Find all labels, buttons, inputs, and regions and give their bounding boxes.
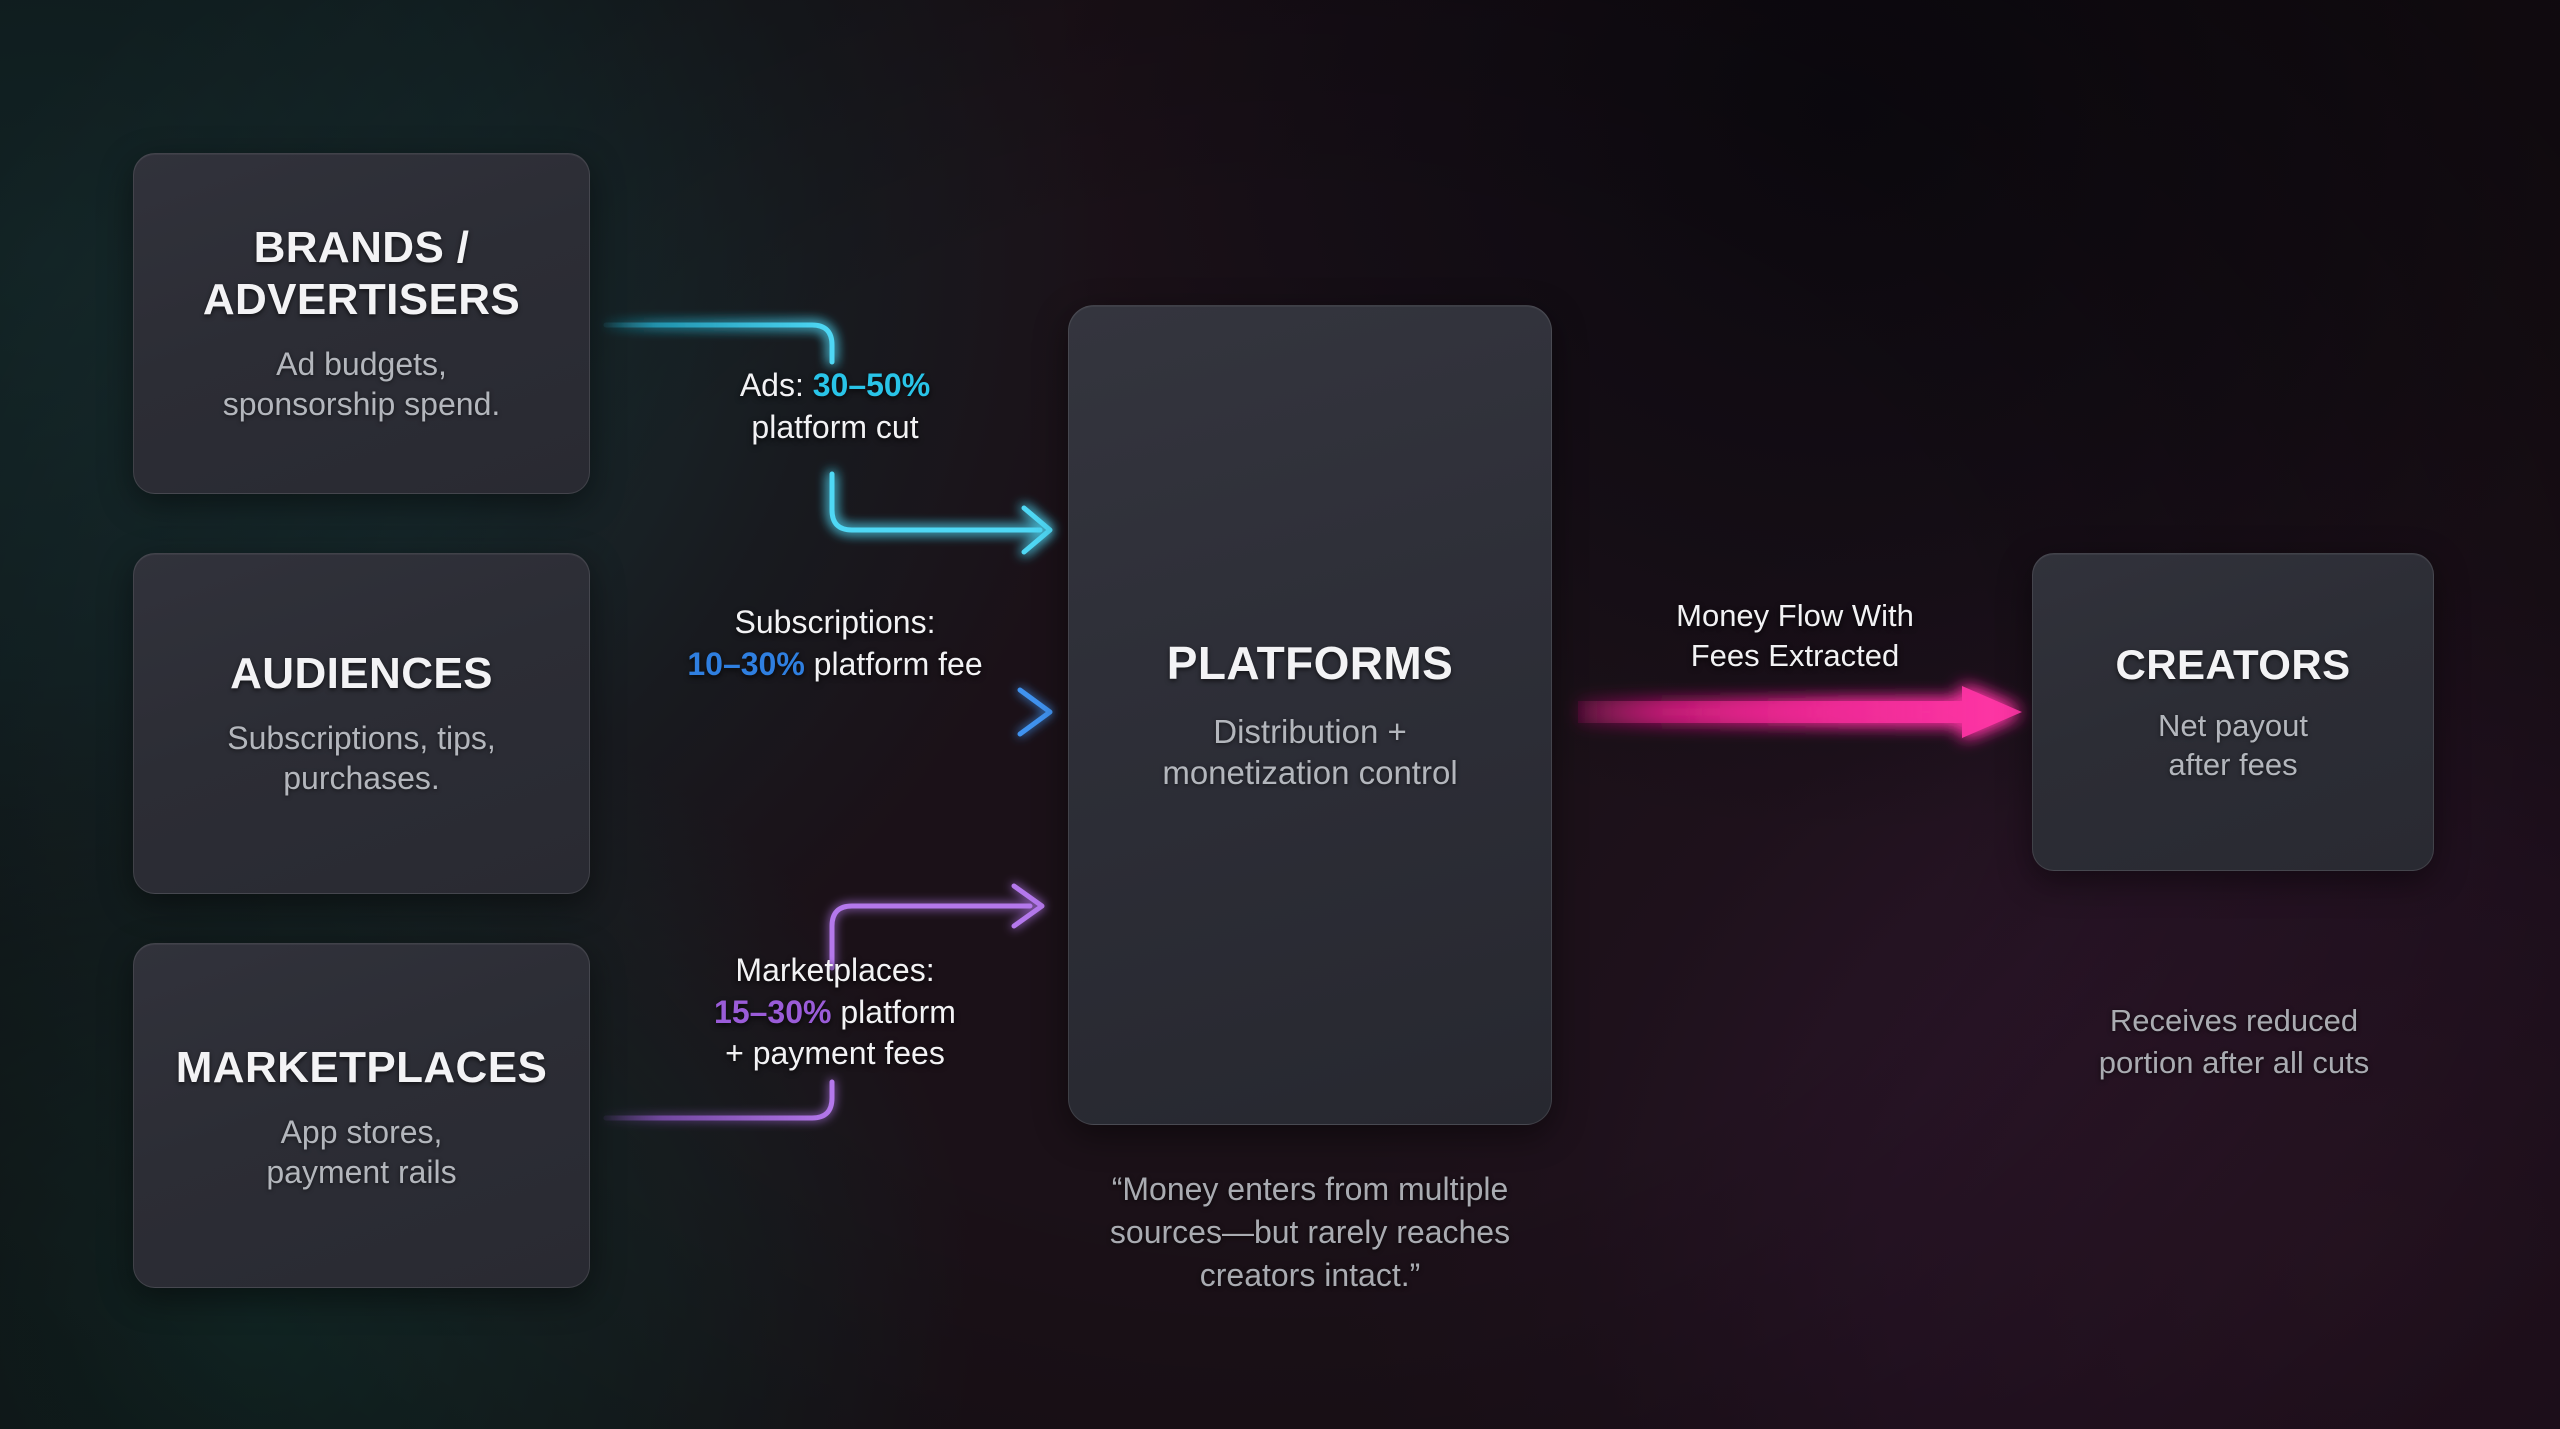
- node-title: PLATFORMS: [1167, 636, 1453, 690]
- node-subtitle-line-2: purchases.: [283, 760, 440, 796]
- node-creators[interactable]: CREATORS Net payout after fees: [2032, 553, 2434, 871]
- edge-label-prefix: Ads:: [740, 367, 813, 403]
- node-subtitle: App stores, payment rails: [266, 1112, 456, 1193]
- node-subtitle-line-1: Ad budgets,: [276, 346, 447, 382]
- edge-label-suffix: platform fee: [805, 646, 983, 682]
- node-subtitle-line-1: Subscriptions, tips,: [227, 720, 496, 756]
- edge-label-suffix: platform cut: [751, 409, 918, 445]
- caption-creators-note: Receives reduced portion after all cuts: [2022, 1000, 2446, 1084]
- edge-label-value: 10–30%: [687, 646, 804, 682]
- edge-label-ads: Ads: 30–50% platform cut: [640, 365, 1030, 448]
- node-title: MARKETPLACES: [176, 1042, 547, 1094]
- node-audiences[interactable]: AUDIENCES Subscriptions, tips, purchases…: [133, 553, 590, 894]
- node-subtitle-line-2: sponsorship spend.: [223, 386, 501, 422]
- node-subtitle-line-1: Net payout: [2158, 708, 2308, 743]
- edge-label-payout: Money Flow With Fees Extracted: [1630, 596, 1960, 677]
- caption-line-2: portion after all cuts: [2099, 1045, 2370, 1080]
- node-subtitle: Distribution + monetization control: [1162, 711, 1457, 794]
- caption-platform-quote: “Money enters from multiple sources—but …: [1045, 1168, 1575, 1298]
- node-marketplaces[interactable]: MARKETPLACES App stores, payment rails: [133, 943, 590, 1288]
- edge-label-line-1: Money Flow With: [1676, 598, 1914, 633]
- caption-line-2: sources—but rarely reaches: [1110, 1214, 1510, 1250]
- caption-line-3: creators intact.”: [1200, 1257, 1421, 1293]
- node-subtitle-line-1: Distribution +: [1213, 713, 1407, 750]
- edge-label-suffix: platform: [831, 994, 955, 1030]
- node-title: CREATORS: [2116, 640, 2351, 690]
- node-brands-advertisers[interactable]: BRANDS / ADVERTISERS Ad budgets, sponsor…: [133, 153, 590, 494]
- node-platforms[interactable]: PLATFORMS Distribution + monetization co…: [1068, 305, 1552, 1125]
- edge-label-line-3: + payment fees: [725, 1035, 945, 1071]
- edge-label-value: 30–50%: [813, 367, 930, 403]
- edge-label-marketplaces: Marketplaces:15–30% platform+ payment fe…: [630, 950, 1040, 1075]
- edge-label-prefix: Marketplaces:: [735, 952, 934, 988]
- node-title: AUDIENCES: [230, 648, 493, 700]
- node-subtitle-line-1: App stores,: [281, 1114, 443, 1150]
- node-subtitle-line-2: monetization control: [1162, 754, 1457, 791]
- edge-label-prefix: Subscriptions:: [735, 604, 936, 640]
- edge-label-value: 15–30%: [714, 994, 831, 1030]
- node-title-line-1: BRANDS /: [254, 223, 470, 272]
- connector-subscriptions: [608, 690, 1050, 734]
- node-subtitle-line-2: payment rails: [266, 1154, 456, 1190]
- node-subtitle-line-2: after fees: [2168, 747, 2297, 782]
- diagram-canvas: BRANDS / ADVERTISERS Ad budgets, sponsor…: [0, 0, 2560, 1429]
- node-title-line-2: ADVERTISERS: [203, 275, 520, 324]
- node-title: BRANDS / ADVERTISERS: [203, 222, 520, 326]
- node-subtitle: Ad budgets, sponsorship spend.: [223, 344, 501, 425]
- caption-line-1: “Money enters from multiple: [1112, 1171, 1509, 1207]
- node-subtitle: Subscriptions, tips, purchases.: [227, 718, 496, 799]
- edge-label-line-2: Fees Extracted: [1691, 638, 1899, 673]
- node-subtitle: Net payout after fees: [2158, 706, 2308, 784]
- edge-label-subscriptions: Subscriptions:10–30% platform fee: [630, 602, 1040, 685]
- caption-line-1: Receives reduced: [2110, 1003, 2358, 1038]
- connector-payout: [1578, 686, 2022, 738]
